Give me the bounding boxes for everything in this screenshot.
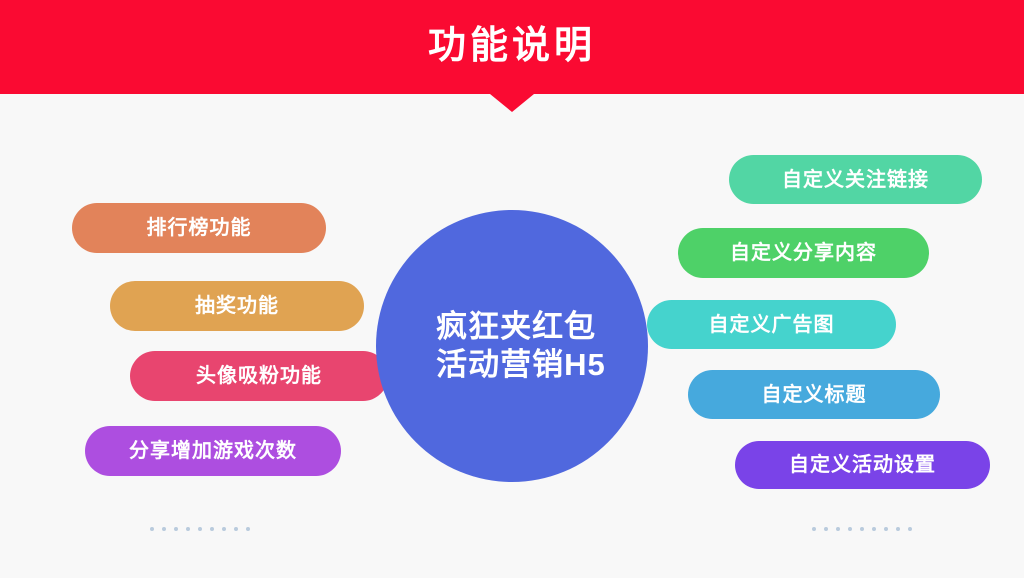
feature-pill-custom-follow-link[interactable]: 自定义关注链接 xyxy=(729,155,982,204)
dot-icon xyxy=(908,527,912,531)
feature-pill-avatar-fans[interactable]: 头像吸粉功能 xyxy=(130,351,388,401)
feature-pill-label: 自定义活动设置 xyxy=(789,455,936,475)
dot-decoration-right xyxy=(812,527,912,531)
feature-pill-label: 自定义标题 xyxy=(762,385,867,405)
dot-icon xyxy=(860,527,864,531)
dot-icon xyxy=(234,527,238,531)
dot-icon xyxy=(896,527,900,531)
dot-icon xyxy=(848,527,852,531)
feature-pill-ranking[interactable]: 排行榜功能 xyxy=(72,203,326,253)
feature-pill-custom-title[interactable]: 自定义标题 xyxy=(688,370,940,419)
dot-icon xyxy=(198,527,202,531)
feature-pill-label: 抽奖功能 xyxy=(195,296,279,316)
dot-icon xyxy=(812,527,816,531)
center-hub-line-1: 疯狂夹红包 xyxy=(436,308,606,346)
feature-pill-lottery[interactable]: 抽奖功能 xyxy=(110,281,364,331)
dot-icon xyxy=(246,527,250,531)
dot-icon xyxy=(884,527,888,531)
dot-icon xyxy=(872,527,876,531)
feature-pill-custom-activity-settings[interactable]: 自定义活动设置 xyxy=(735,441,990,489)
dot-icon xyxy=(824,527,828,531)
feature-pill-label: 自定义分享内容 xyxy=(730,243,877,263)
center-hub-circle[interactable]: 疯狂夹红包 活动营销H5 xyxy=(376,210,648,482)
feature-pill-label: 头像吸粉功能 xyxy=(196,366,322,386)
feature-pill-custom-ad-image[interactable]: 自定义广告图 xyxy=(647,300,896,349)
dot-icon xyxy=(162,527,166,531)
dot-icon xyxy=(836,527,840,531)
dot-icon xyxy=(222,527,226,531)
dot-icon xyxy=(150,527,154,531)
feature-pill-label: 自定义广告图 xyxy=(709,315,835,335)
feature-pill-label: 排行榜功能 xyxy=(147,218,252,238)
slide-canvas: 功能说明 排行榜功能 抽奖功能 头像吸粉功能 分享增加游戏次数 自定义关注链接 … xyxy=(0,0,1024,578)
feature-pill-custom-share-content[interactable]: 自定义分享内容 xyxy=(678,228,929,278)
feature-pill-share-plays[interactable]: 分享增加游戏次数 xyxy=(85,426,341,476)
triangle-down-icon xyxy=(490,94,534,112)
dot-icon xyxy=(186,527,190,531)
page-title: 功能说明 xyxy=(0,0,1024,94)
dot-decoration-left xyxy=(150,527,250,531)
center-hub-line-2: 活动营销H5 xyxy=(436,346,606,384)
dot-icon xyxy=(210,527,214,531)
center-hub-text: 疯狂夹红包 活动营销H5 xyxy=(418,308,606,384)
feature-pill-label: 自定义关注链接 xyxy=(782,170,929,190)
dot-icon xyxy=(174,527,178,531)
feature-pill-label: 分享增加游戏次数 xyxy=(129,441,297,461)
